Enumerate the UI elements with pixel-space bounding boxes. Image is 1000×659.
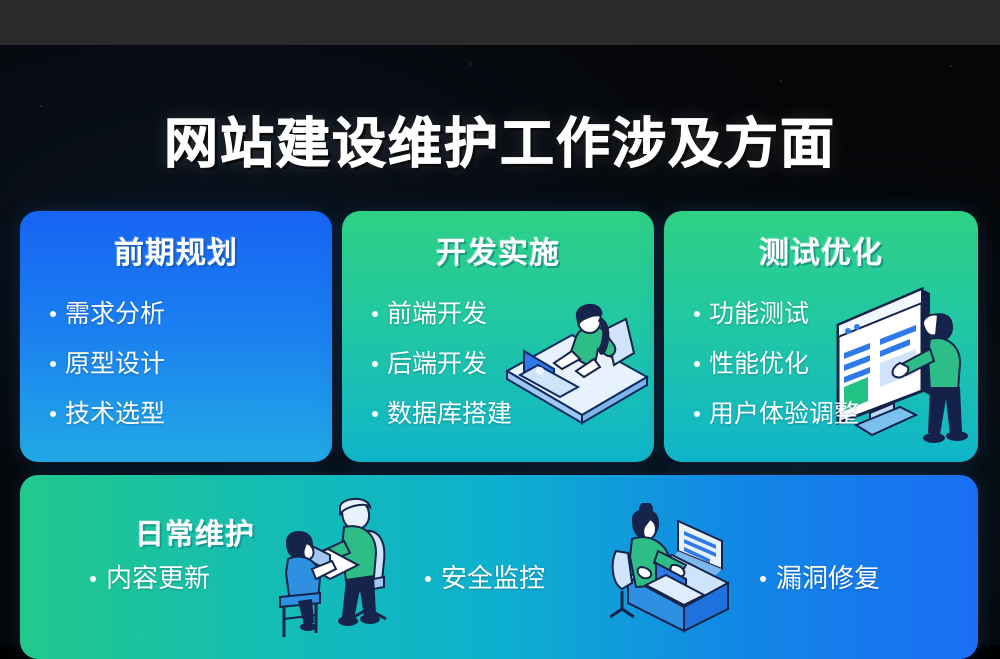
card-bullet-list: 前端开发 后端开发 数据库搭建	[372, 299, 512, 429]
list-item[interactable]: 需求分析	[50, 299, 165, 329]
bullet-dot	[694, 361, 700, 367]
card-bullet-list: 需求分析 原型设计 技术选型	[50, 299, 165, 429]
bullet-dot	[694, 311, 700, 317]
card-bullet-list: 功能测试 性能优化 用户体验调整	[694, 299, 859, 429]
card-title: 开发实施	[342, 236, 654, 272]
bullet-dot	[50, 311, 56, 317]
list-item-label: 功能测试	[709, 299, 809, 329]
bullet-dot	[50, 411, 56, 417]
person-desk-laptop-icon	[610, 503, 740, 638]
list-item[interactable]: 功能测试	[694, 299, 859, 329]
list-item[interactable]: 内容更新	[90, 563, 210, 595]
list-item[interactable]: 安全监控	[425, 563, 545, 595]
list-item-label: 需求分析	[65, 299, 165, 329]
card-title: 测试优化	[664, 236, 978, 272]
card-planning[interactable]: 前期规划	[20, 211, 332, 462]
top-bar	[0, 0, 1000, 45]
bullet-dot	[90, 576, 96, 582]
bullet-dot	[694, 411, 700, 417]
list-item[interactable]: 原型设计	[50, 349, 165, 379]
list-item[interactable]: 漏洞修复	[760, 563, 880, 595]
list-item[interactable]: 性能优化	[694, 349, 859, 379]
page-title: 网站建设维护工作涉及方面	[0, 113, 1000, 175]
list-item[interactable]: 用户体验调整	[694, 399, 859, 429]
bullet-dot	[50, 361, 56, 367]
two-people-laptop-icon	[272, 497, 412, 642]
list-item[interactable]: 前端开发	[372, 299, 512, 329]
list-item-label: 后端开发	[387, 349, 487, 379]
list-item-label: 漏洞修复	[776, 563, 880, 595]
bullet-dot	[372, 411, 378, 417]
card-testing[interactable]: 测试优化	[664, 211, 978, 462]
list-item-label: 前端开发	[387, 299, 487, 329]
card-title: 日常维护	[115, 517, 275, 551]
person-laptop-desk-icon	[502, 293, 652, 428]
bullet-dot	[372, 361, 378, 367]
list-item[interactable]: 数据库搭建	[372, 399, 512, 429]
list-item[interactable]: 技术选型	[50, 399, 165, 429]
card-development[interactable]: 开发实施 前端开发	[342, 211, 654, 462]
list-item-label: 性能优化	[709, 349, 809, 379]
list-item[interactable]: 后端开发	[372, 349, 512, 379]
bullet-dot	[760, 576, 766, 582]
card-maintenance[interactable]: 日常维护	[20, 475, 978, 659]
list-item-label: 数据库搭建	[387, 399, 512, 429]
list-item-label: 技术选型	[65, 399, 165, 429]
card-title: 前期规划	[20, 236, 332, 272]
list-item-label: 内容更新	[106, 563, 210, 595]
bullet-dot	[372, 311, 378, 317]
bullet-dot	[425, 576, 431, 582]
poster-stage: 网站建设维护工作涉及方面 前期规划	[0, 45, 1000, 645]
list-item-label: 用户体验调整	[709, 399, 859, 429]
list-item-label: 原型设计	[65, 349, 165, 379]
list-item-label: 安全监控	[441, 563, 545, 595]
